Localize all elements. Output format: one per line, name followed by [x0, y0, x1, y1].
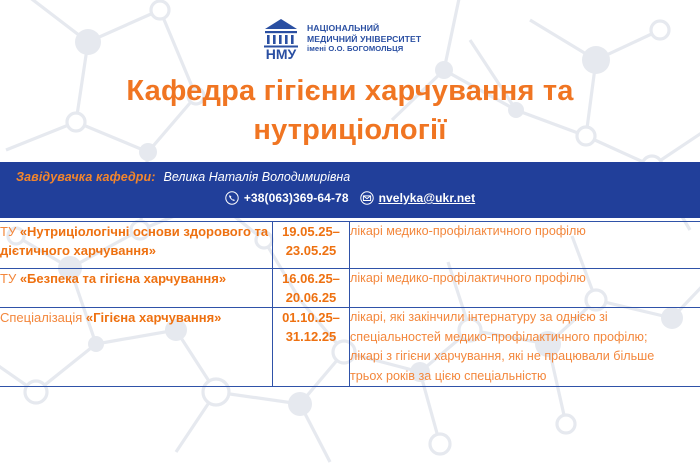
course-prefix: Спеціалізація — [0, 310, 86, 325]
course-name: «Безпека та гігієна харчування» — [20, 271, 226, 286]
audience-line: лікарі з гігієни харчування, які не прац… — [350, 347, 700, 367]
audience-cell: лікарі медико-профілактичного профілю — [350, 222, 700, 269]
date-line-1: 16.06.25– — [273, 269, 349, 288]
university-building-icon: НМУ — [262, 16, 300, 62]
phone-number: +38(063)369-64-78 — [244, 191, 349, 205]
table-row: ТУ «Нутриціологічні основи здорового та … — [0, 222, 700, 269]
department-head-band: Завідувачка кафедри: Велика Наталія Воло… — [0, 162, 700, 218]
course-cell: Спеціалізація «Гігієна харчування» — [0, 308, 273, 387]
table-row: Спеціалізація «Гігієна харчування» 01.10… — [0, 308, 700, 387]
courses-table: ТУ «Нутриціологічні основи здорового та … — [0, 221, 700, 387]
course-prefix: ТУ — [0, 224, 20, 239]
page-title-line-2: нутриціології — [60, 111, 640, 150]
logo-line-3: імені О.О. БОГОМОЛЬЦЯ — [307, 44, 421, 54]
head-name-row: Завідувачка кафедри: Велика Наталія Воло… — [16, 170, 350, 184]
logo-line-2: МЕДИЧНИЙ УНІВЕРСИТЕТ — [307, 34, 421, 44]
contact-row: +38(063)369-64-78 nvelyka@ukr.net — [0, 191, 700, 205]
audience-cell: лікарі, які закінчили інтернатуру за одн… — [350, 308, 700, 387]
audience-line: лікарі, які закінчили інтернатуру за одн… — [350, 308, 700, 328]
course-cell: ТУ «Нутриціологічні основи здорового та … — [0, 222, 273, 269]
table-row: ТУ «Безпека та гігієна харчування» 16.06… — [0, 269, 700, 308]
course-cell: ТУ «Безпека та гігієна харчування» — [0, 269, 273, 308]
logo-line-1: НАЦІОНАЛЬНИЙ — [307, 23, 421, 33]
audience-line: лікарі медико-профілактичного профілю — [350, 222, 700, 242]
course-name: «Гігієна харчування» — [86, 310, 222, 325]
audience-line: спеціальностей медико-профілактичного пр… — [350, 328, 700, 348]
date-line-1: 19.05.25– — [273, 222, 349, 241]
date-line-2: 23.05.25 — [273, 241, 349, 260]
page-title: Кафедра гігієни харчування та нутриціоло… — [60, 72, 640, 150]
university-logo: НМУ НАЦІОНАЛЬНИЙ МЕДИЧНИЙ УНІВЕРСИТЕТ ім… — [262, 16, 421, 62]
svg-text:НМУ: НМУ — [266, 46, 297, 62]
head-name: Велика Наталія Володимирівна — [164, 170, 351, 184]
date-cell: 19.05.25– 23.05.25 — [273, 222, 350, 269]
head-label: Завідувачка кафедри: — [16, 170, 156, 184]
page-title-line-1: Кафедра гігієни харчування та — [60, 72, 640, 111]
date-line-1: 01.10.25– — [273, 308, 349, 327]
phone-contact[interactable]: +38(063)369-64-78 — [225, 191, 349, 205]
phone-icon — [225, 191, 239, 205]
audience-cell: лікарі медико-профілактичного профілю — [350, 269, 700, 308]
course-name: «Нутриціологічні основи здорового та діє… — [0, 224, 268, 258]
audience-line: трьох років за цією спеціальністю — [350, 367, 700, 387]
date-cell: 16.06.25– 20.06.25 — [273, 269, 350, 308]
slide-root: НМУ НАЦІОНАЛЬНИЙ МЕДИЧНИЙ УНІВЕРСИТЕТ ім… — [0, 0, 700, 467]
email-address: nvelyka@ukr.net — [379, 191, 476, 205]
date-line-2: 20.06.25 — [273, 288, 349, 307]
date-line-2: 31.12.25 — [273, 327, 349, 346]
course-prefix: ТУ — [0, 271, 20, 286]
envelope-icon — [360, 191, 374, 205]
email-contact[interactable]: nvelyka@ukr.net — [360, 191, 476, 205]
audience-line: лікарі медико-профілактичного профілю — [350, 269, 700, 289]
date-cell: 01.10.25– 31.12.25 — [273, 308, 350, 387]
